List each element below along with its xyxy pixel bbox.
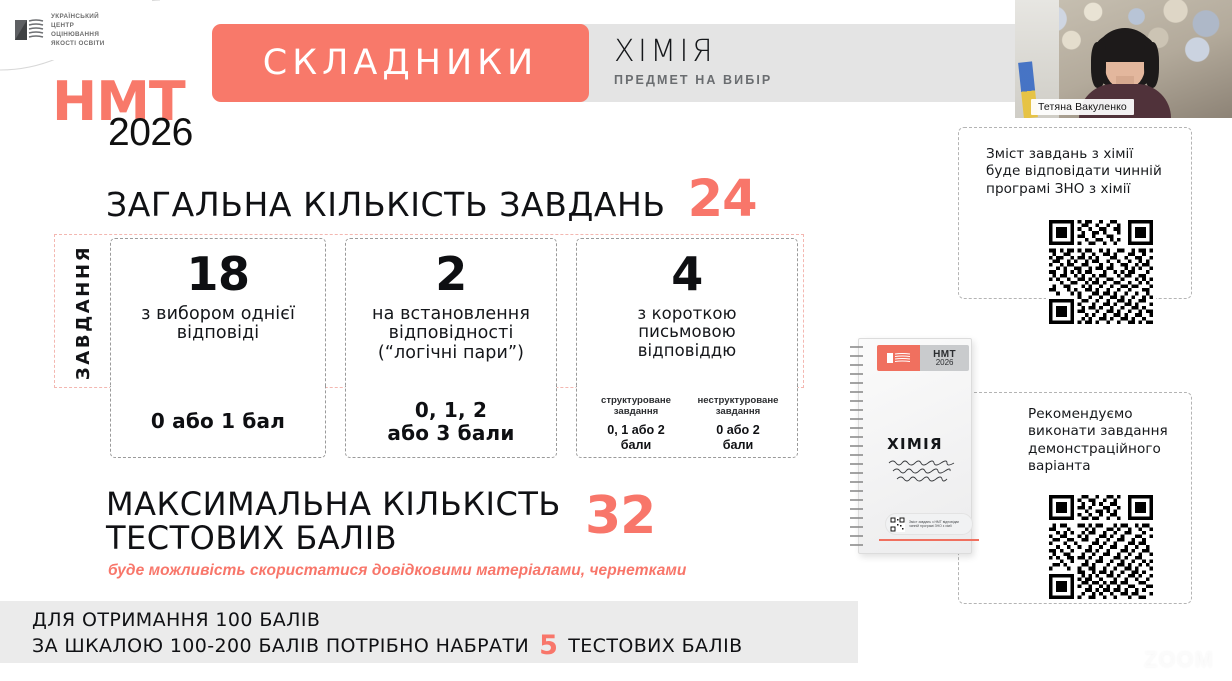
nmt-brand: НМТ 2026 [52,78,185,127]
task-card-2-score: 0, 1, 2 або 3 бали [387,399,514,445]
max-score-block: МАКСИМАЛЬНА КІЛЬКІСТЬ ТЕСТОВИХ БАЛІВ [106,487,561,555]
task-card-single-choice-score: 0 або 1 бал [110,386,326,458]
booklet-handwriting-decoration [883,457,967,483]
total-tasks-value: 24 [688,180,757,221]
task-card-3-count: 4 [671,253,703,297]
total-tasks-heading: ЗАГАЛЬНА КІЛЬКІСТЬ ЗАВДАНЬ 24 [106,180,757,224]
task-card-1-description: з вибором однієї відповіді [141,305,295,344]
task-card-3-description: з короткою письмовою відповіддю [637,305,736,360]
organization-logo-text: УКРАЇНСЬКИЙ ЦЕНТР ОЦІНЮВАННЯ ЯКОСТІ ОСВІ… [51,12,105,49]
task-card-3-subcolumn-unstructured: неструктуроване завдання 0 або 2 бали [689,396,787,453]
task-card-short-answer-score: структуроване завдання 0, 1 або 2 бали н… [576,386,798,458]
nmt-brand-year: 2026 [108,111,193,155]
task-card-1-score: 0 або 1 бал [151,410,285,433]
qr-code-icon [1049,220,1153,324]
task-card-3-sub1-title: структуроване завдання [587,396,685,418]
watermark: ZOOM [1144,647,1214,673]
total-tasks-label: ЗАГАЛЬНА КІЛЬКІСТЬ ЗАВДАНЬ [106,185,666,224]
header-section-label: СКЛАДНИКИ [263,43,538,83]
task-card-1-count: 18 [186,253,249,297]
info-card-syllabus-text: Зміст завдань з хімії буде відповідати ч… [986,146,1186,198]
task-card-3-sub2-score: 0 або 2 бали [689,423,787,453]
tasks-vertical-label: ЗАВДАННЯ [62,238,106,386]
booklet-strip-text: Зміст завдань з НМТ відповідає чинній пр… [909,520,959,529]
footer-line-2-before: ЗА ШКАЛОЮ 100-200 БАЛІВ ПОТРІБНО НАБРАТИ [32,635,529,657]
task-card-matching-score: 0, 1, 2 або 3 бали [345,386,557,458]
booklet-header: НМТ 2026 [877,345,969,371]
qr-code-syllabus[interactable] [1046,217,1156,327]
open-book-icon [14,17,44,43]
footer-line-2: ЗА ШКАЛОЮ 100-200 БАЛІВ ПОТРІБНО НАБРАТИ… [32,633,743,657]
footer-bar: ДЛЯ ОТРИМАННЯ 100 БАЛІВ ЗА ШКАЛОЮ 100-20… [0,601,858,663]
booklet-brand-year: 2026 [936,359,954,367]
max-score-value: 32 [585,494,655,538]
demo-booklet-mockup: НМТ 2026 ХІМІЯ [848,338,972,554]
info-card-demo-variant-text: Рекомендуємо виконати завдання демонстра… [1028,406,1188,476]
task-card-3-sub2-title: неструктуроване завдання [689,396,787,418]
header-subject-subtitle: ПРЕДМЕТ НА ВИБІР [614,73,772,87]
footer-line-1: ДЛЯ ОТРИМАННЯ 100 БАЛІВ [32,609,320,631]
qr-code-icon [1049,495,1153,599]
booklet-open-book-icon [886,352,912,364]
task-card-matching: 2 на встановлення відповідності (“логічн… [345,238,557,386]
booklet-spiral-binding [848,342,866,550]
task-card-3-subcolumns: структуроване завдання 0, 1 або 2 бали н… [587,396,787,453]
footer-line-2-after: ТЕСТОВИХ БАЛІВ [568,635,742,657]
speaker-name-label: Тетяна Вакуленко [1031,99,1134,115]
task-card-short-answer: 4 з короткою письмовою відповіддю [576,238,798,386]
task-card-3-sub1-score: 0, 1 або 2 бали [587,423,685,453]
booklet-logo-block [877,345,920,371]
header-section-pill: СКЛАДНИКИ [212,24,589,102]
speaker-video[interactable]: Тетяна Вакуленко [1015,0,1232,118]
task-card-2-count: 2 [435,253,467,297]
footer-required-score: 5 [539,635,558,657]
booklet-qr-strip: Зміст завдань з НМТ відповідає чинній пр… [885,513,973,535]
booklet-cover: НМТ 2026 ХІМІЯ [858,338,972,554]
header-subject-block: ХІМІЯ ПРЕДМЕТ НА ВИБІР [614,36,772,87]
slide-root: УКРАЇНСЬКИЙ ЦЕНТР ОЦІНЮВАННЯ ЯКОСТІ ОСВІ… [0,0,1232,681]
task-card-3-subcolumn-structured: структуроване завдання 0, 1 або 2 бали [587,396,685,453]
booklet-subject-title: ХІМІЯ [859,435,971,453]
header-subject-name: ХІМІЯ [614,36,772,68]
task-card-2-description: на встановлення відповідності (“логічні … [372,305,530,364]
qr-code-demo-variant[interactable] [1046,492,1156,602]
booklet-brand-block: НМТ 2026 [920,345,969,371]
max-score-note: буде можливість скористатися довідковими… [108,562,686,580]
task-card-single-choice: 18 з вибором однієї відповіді [110,238,326,386]
max-score-title: МАКСИМАЛЬНА КІЛЬКІСТЬ ТЕСТОВИХ БАЛІВ [106,487,561,555]
tasks-vertical-label-text: ЗАВДАННЯ [74,244,95,379]
booklet-qr-code-icon [890,517,905,532]
booklet-accent-underline [879,539,979,541]
